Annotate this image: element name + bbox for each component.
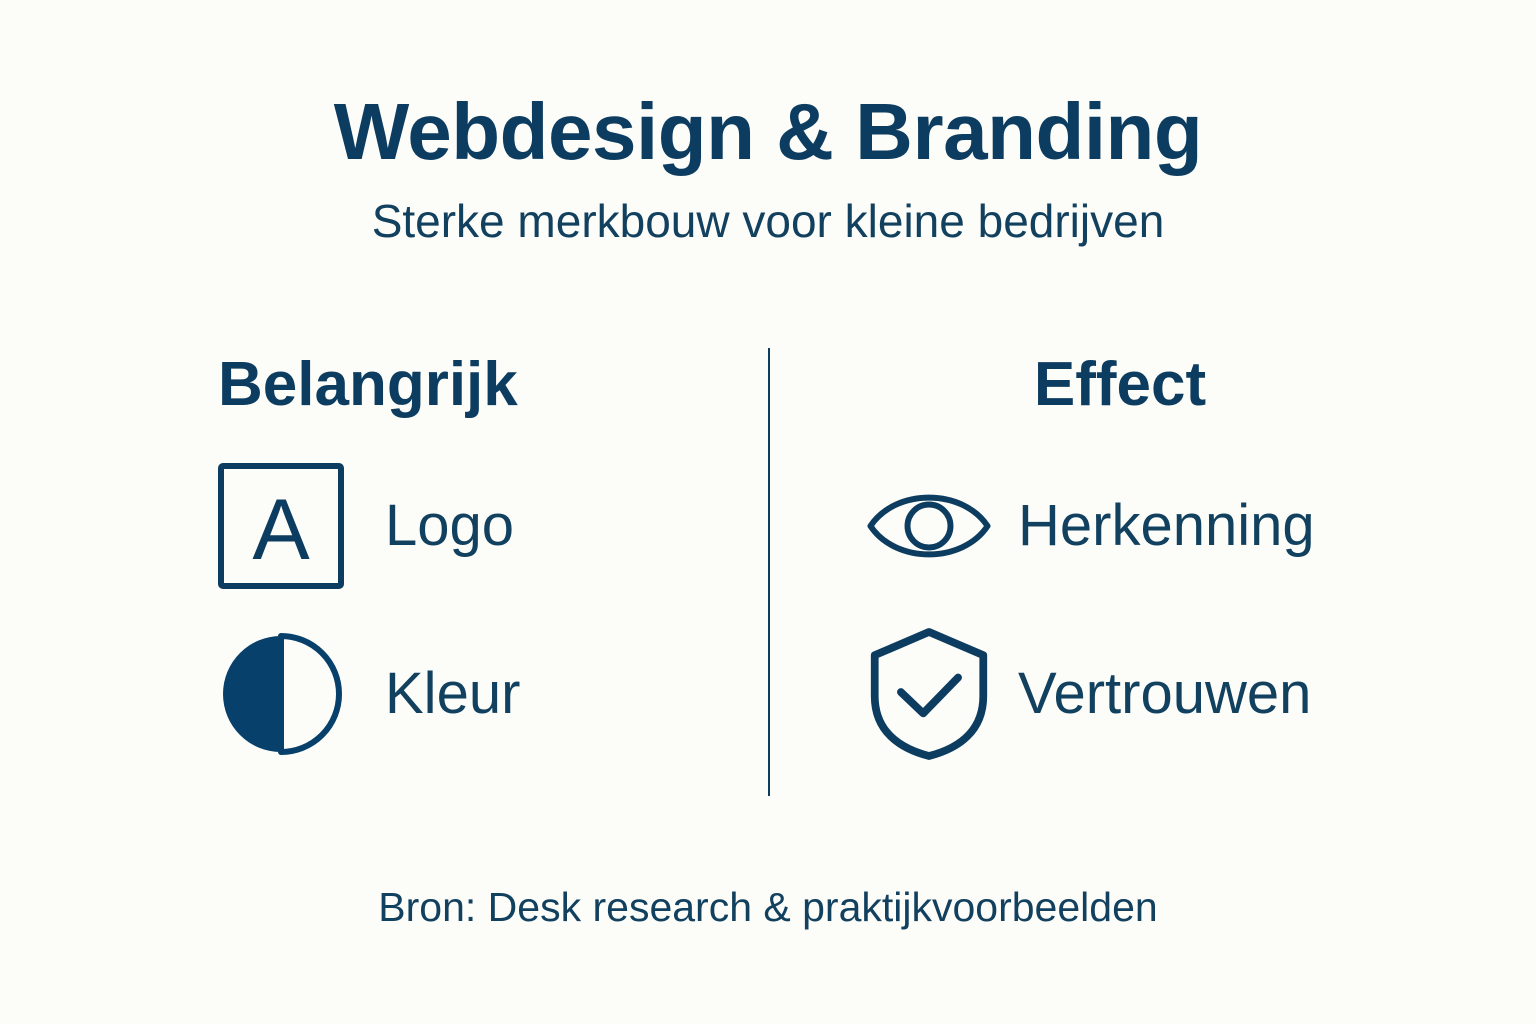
list-item-label-vertrouwen: Vertrouwen xyxy=(1018,665,1311,723)
list-item-herkenning: Herkenning xyxy=(866,461,1315,591)
column-divider xyxy=(768,348,770,796)
columns-section: Belangrijk A Logo Kleur xyxy=(0,348,1536,798)
list-item-vertrouwen: Vertrouwen xyxy=(866,629,1311,759)
page-title: Webdesign & Branding xyxy=(0,92,1536,172)
header: Webdesign & Branding Sterke merkbouw voo… xyxy=(0,92,1536,244)
shield-check-icon xyxy=(866,628,992,760)
list-item-label-herkenning: Herkenning xyxy=(1018,497,1315,555)
infographic-poster: Webdesign & Branding Sterke merkbouw voo… xyxy=(0,0,1536,1024)
page-subtitle: Sterke merkbouw voor kleine bedrijven xyxy=(0,198,1536,244)
list-item-logo: A Logo xyxy=(218,461,514,591)
column-belangrijk: Belangrijk A Logo Kleur xyxy=(180,348,740,796)
list-item-label-logo: Logo xyxy=(385,497,514,555)
letter-a-in-square-icon: A xyxy=(218,460,344,592)
svg-text:A: A xyxy=(252,482,310,578)
eye-icon xyxy=(866,460,992,592)
column-effect: Effect Herkenning Vertrouwen xyxy=(830,348,1410,796)
column-heading-belangrijk: Belangrijk xyxy=(218,354,518,416)
list-item-label-kleur: Kleur xyxy=(385,665,520,723)
half-filled-circle-icon xyxy=(218,628,344,760)
source-note: Bron: Desk research & praktijkvoorbeelde… xyxy=(0,887,1536,928)
column-heading-effect: Effect xyxy=(830,354,1410,416)
list-item-kleur: Kleur xyxy=(218,629,520,759)
